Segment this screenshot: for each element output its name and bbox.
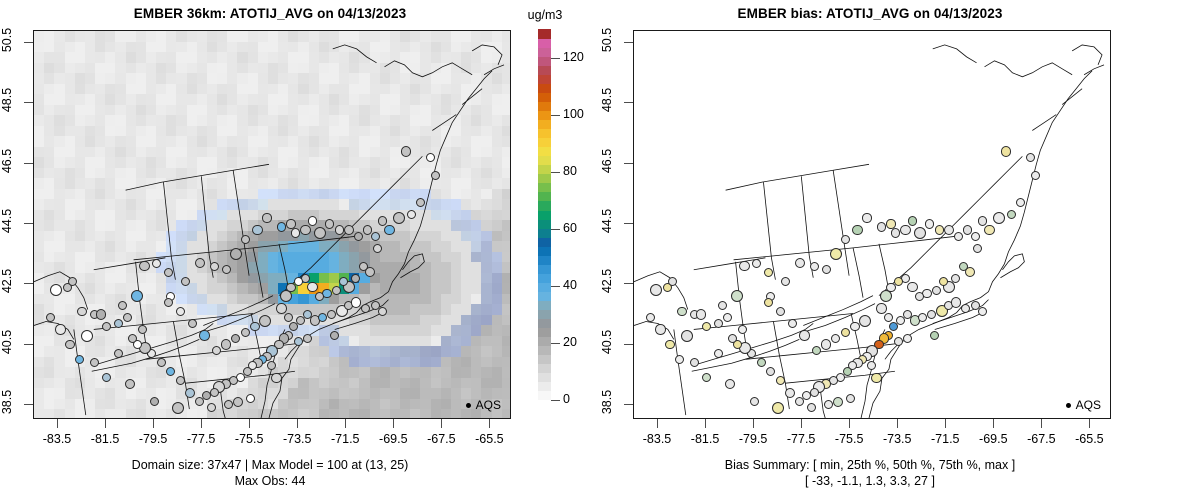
x-axis-tick — [393, 419, 394, 428]
bias-monitor-marker — [894, 337, 903, 346]
x-axis-tick — [993, 419, 994, 428]
bias-monitor-marker — [876, 303, 886, 313]
bias-monitor-marker — [925, 219, 934, 228]
aqs-monitor-marker — [373, 244, 382, 253]
y-axis-label: 50.5 — [600, 17, 614, 63]
colorbar-segment — [538, 156, 551, 166]
bias-monitor-marker — [810, 388, 819, 397]
y-axis-tick — [24, 223, 33, 224]
aqs-monitor-marker — [222, 265, 231, 274]
right-caption-line1: Bias Summary: [ min, 25th %, 50th %, 75t… — [600, 458, 1140, 472]
bias-monitor-marker — [650, 284, 662, 296]
aqs-monitor-marker — [102, 322, 111, 331]
y-axis-tick — [624, 102, 633, 103]
x-axis-tick — [441, 419, 442, 428]
bias-monitor-marker — [880, 290, 892, 302]
left-caption-line1: Domain size: 37x47 | Max Model = 100 at … — [0, 458, 540, 472]
colorbar-segment — [538, 390, 551, 400]
aqs-legend-dot — [466, 403, 471, 408]
bias-monitor-marker — [984, 225, 994, 235]
bias-monitor-marker — [725, 379, 735, 389]
bias-monitor-marker — [961, 304, 970, 313]
bias-monitor-marker — [900, 225, 910, 235]
x-axis-tick — [297, 419, 298, 428]
bias-monitor-marker — [675, 355, 684, 364]
aqs-monitor-marker — [157, 358, 166, 367]
aqs-monitor-marker — [176, 376, 185, 385]
y-axis-label: 42.5 — [0, 258, 14, 304]
aqs-monitor-marker — [138, 325, 147, 334]
y-axis-label: 44.5 — [600, 198, 614, 244]
aqs-monitor-marker — [46, 313, 55, 322]
bias-monitor-marker — [799, 330, 809, 340]
bias-monitor-marker — [935, 225, 944, 234]
bias-monitor-marker — [1007, 210, 1016, 219]
x-axis-tick — [945, 419, 946, 428]
aqs-monitor-marker — [252, 225, 262, 235]
aqs-monitor-marker — [365, 267, 375, 277]
aqs-monitor-marker — [102, 373, 111, 382]
right-panel: EMBER bias: ATOTIJ_AVG on 04/13/2023 AQS… — [600, 0, 1200, 502]
x-axis-tick — [57, 419, 58, 428]
bias-monitor-marker — [781, 277, 790, 286]
aqs-monitor-marker — [294, 337, 303, 346]
aqs-monitor-marker — [125, 379, 135, 389]
bias-monitor-marker — [877, 222, 886, 231]
aqs-monitor-marker — [81, 330, 93, 342]
aqs-monitor-marker — [318, 313, 327, 322]
y-axis-tick — [24, 163, 33, 164]
aqs-monitor-marker — [176, 307, 185, 316]
colorbar-segment — [538, 246, 551, 256]
aqs-monitor-marker — [123, 313, 132, 322]
bias-monitor-marker — [993, 212, 1005, 224]
aqs-monitor-marker — [188, 319, 197, 328]
aqs-monitor-marker — [118, 301, 127, 310]
bias-monitor-marker — [718, 301, 727, 310]
bias-monitor-marker — [891, 228, 900, 237]
y-axis-tick — [624, 283, 633, 284]
left-caption-line2: Max Obs: 44 — [0, 474, 540, 488]
aqs-monitor-marker — [401, 146, 411, 156]
bias-monitor-marker — [841, 328, 850, 337]
bias-monitor-marker — [951, 297, 961, 307]
y-axis-tick — [624, 404, 633, 405]
y-axis-label: 48.5 — [0, 77, 14, 123]
y-axis-label: 42.5 — [600, 258, 614, 304]
bias-monitor-marker — [824, 400, 833, 409]
aqs-legend: AQS — [1063, 397, 1104, 413]
colorbar-segment — [538, 102, 551, 112]
aqs-monitor-marker — [378, 216, 387, 225]
aqs-monitor-marker — [307, 282, 317, 292]
x-axis-tick — [897, 419, 898, 428]
aqs-monitor-marker — [378, 307, 387, 316]
bias-monitor-marker — [731, 290, 743, 302]
y-axis-label: 44.5 — [0, 198, 14, 244]
y-axis-tick — [24, 283, 33, 284]
colorbar-segment — [538, 372, 551, 382]
left-panel-title: EMBER 36km: ATOTIJ_AVG on 04/13/2023 — [0, 6, 540, 21]
colorbar-segment — [538, 93, 551, 103]
colorbar-segment — [538, 47, 551, 57]
bias-monitor-marker — [810, 262, 819, 271]
aqs-legend-dot — [1066, 403, 1071, 408]
y-axis-tick — [24, 102, 33, 103]
aqs-monitor-marker — [50, 284, 62, 296]
aqs-monitor-marker — [207, 403, 216, 412]
aqs-monitor-marker — [212, 346, 221, 355]
colorbar-segment — [538, 345, 551, 355]
colorbar-tick — [551, 343, 560, 344]
bias-monitor-markers — [634, 31, 1110, 418]
aqs-monitor-marker — [407, 210, 416, 219]
left-map-frame: AQS — [33, 30, 511, 419]
bias-monitor-marker — [668, 277, 677, 286]
bias-monitor-marker — [830, 248, 842, 260]
aqs-monitor-marker — [344, 225, 354, 235]
aqs-monitor-marker — [371, 232, 380, 241]
aqs-monitor-marker — [65, 340, 74, 349]
bias-monitor-marker — [788, 319, 797, 328]
colorbar-tick — [551, 229, 560, 230]
y-axis-tick — [624, 163, 633, 164]
aqs-monitor-marker — [267, 361, 276, 370]
bias-monitor-marker — [812, 346, 821, 355]
colorbar-segment — [538, 363, 551, 373]
bias-monitor-marker — [886, 219, 895, 228]
right-panel-title: EMBER bias: ATOTIJ_AVG on 04/13/2023 — [600, 6, 1140, 21]
bias-monitor-marker — [965, 267, 975, 277]
bias-monitor-marker — [846, 394, 855, 403]
aqs-monitor-marker — [224, 400, 233, 409]
aqs-monitor-marker — [426, 153, 435, 162]
aqs-monitor-marker — [335, 225, 344, 234]
aqs-monitor-marker — [262, 213, 271, 222]
aqs-monitor-marker — [199, 330, 209, 340]
aqs-monitor-marker — [351, 297, 361, 307]
bias-monitor-marker — [859, 315, 871, 327]
bias-monitor-marker — [908, 216, 917, 225]
colorbar-segment — [538, 66, 551, 76]
colorbar-segment — [538, 354, 551, 364]
colorbar-tick-label: 0 — [563, 392, 570, 406]
aqs-monitor-marker — [250, 322, 259, 331]
bias-monitor-marker — [723, 313, 732, 322]
colorbar-segment — [538, 129, 551, 139]
bias-monitor-marker — [795, 397, 804, 406]
x-axis-tick — [705, 419, 706, 428]
bias-monitor-marker — [655, 324, 665, 334]
x-axis-label: -65.5 — [459, 432, 519, 446]
aqs-monitor-marker — [271, 373, 281, 383]
aqs-monitor-marker — [286, 219, 295, 228]
bias-monitor-marker — [867, 361, 876, 370]
bias-monitor-marker — [907, 282, 917, 292]
colorbar-segment — [538, 57, 551, 67]
bias-monitor-marker — [750, 397, 759, 406]
x-axis-label: -65.5 — [1059, 432, 1119, 446]
colorbar-segment — [538, 309, 551, 319]
aqs-monitor-marker — [75, 355, 84, 364]
x-axis-tick — [657, 419, 658, 428]
colorbar-tick — [551, 286, 560, 287]
bias-monitor-marker — [677, 307, 686, 316]
aqs-monitor-marker — [221, 339, 231, 349]
aqs-monitor-marker — [55, 324, 65, 334]
aqs-monitor-marker — [327, 310, 336, 319]
colorbar-tick — [551, 58, 560, 59]
x-axis-tick — [249, 419, 250, 428]
bias-monitor-marker — [752, 259, 761, 268]
aqs-monitor-marker — [291, 228, 300, 237]
left-panel: EMBER 36km: ATOTIJ_AVG on 04/13/2023 AQS… — [0, 0, 600, 502]
aqs-monitor-marker — [210, 388, 219, 397]
bias-monitor-marker — [738, 325, 747, 334]
x-axis-tick — [1089, 419, 1090, 428]
aqs-monitor-marker — [139, 261, 149, 271]
bias-monitor-marker — [785, 388, 795, 398]
right-map-frame: AQS — [633, 30, 1111, 419]
colorbar-segment — [538, 255, 551, 265]
bias-monitor-marker — [862, 213, 871, 222]
colorbar-segment — [538, 38, 551, 48]
x-axis-tick — [489, 419, 490, 428]
colorbar-segment — [538, 381, 551, 391]
bias-monitor-marker — [772, 402, 784, 414]
y-axis-label: 46.5 — [600, 138, 614, 184]
colorbar-segment — [538, 318, 551, 328]
colorbar-segment — [538, 192, 551, 202]
x-axis-tick — [345, 419, 346, 428]
bias-monitor-marker — [914, 227, 926, 239]
bias-monitor-marker — [954, 232, 963, 241]
bias-monitor-marker — [930, 331, 939, 340]
colorbar-segment — [538, 228, 551, 238]
bias-monitor-marker — [739, 261, 749, 271]
bias-monitor-marker — [696, 309, 706, 319]
right-caption-line2: [ -33, -1.1, 1.3, 3.3, 27 ] — [600, 474, 1140, 488]
bias-monitor-marker — [646, 313, 655, 322]
bias-monitor-marker — [665, 340, 674, 349]
colorbar-segment — [538, 210, 551, 220]
aqs-monitor-marker — [361, 304, 370, 313]
left-colorbar: ug/m3 020406080100120 — [538, 30, 551, 400]
colorbar-segment — [538, 120, 551, 130]
left-colorbar-gradient: 020406080100120 — [538, 30, 551, 400]
aqs-monitor-marker — [280, 290, 292, 302]
x-axis-tick — [105, 419, 106, 428]
bias-monitor-marker — [850, 322, 859, 331]
aqs-legend: AQS — [463, 397, 504, 413]
aqs-monitor-marker — [330, 331, 339, 340]
colorbar-tick-label: 120 — [563, 50, 584, 64]
aqs-monitor-marker — [303, 334, 312, 343]
bias-monitor-marker — [1026, 153, 1035, 162]
aqs-monitor-marker — [166, 367, 175, 376]
colorbar-segment — [538, 183, 551, 193]
aqs-monitor-marker — [210, 262, 219, 271]
bias-monitor-marker — [903, 334, 912, 343]
colorbar-tick-label: 60 — [563, 221, 577, 235]
bias-monitor-marker — [822, 265, 831, 274]
y-axis-label: 48.5 — [600, 77, 614, 123]
colorbar-segment — [538, 237, 551, 247]
aqs-monitor-marker — [259, 315, 271, 327]
bias-monitor-marker — [833, 397, 843, 407]
bias-monitor-marker — [971, 232, 980, 241]
colorbar-segment — [538, 147, 551, 157]
aqs-monitor-marker — [308, 216, 317, 225]
aqs-monitor-marker — [230, 248, 242, 260]
colorbar-tick — [551, 400, 560, 401]
colorbar-segment — [538, 165, 551, 175]
aqs-monitor-marker — [195, 397, 204, 406]
aqs-monitor-marker — [284, 313, 293, 322]
aqs-monitor-marker — [164, 298, 173, 307]
colorbar-segment — [538, 264, 551, 274]
aqs-monitor-marker — [172, 402, 184, 414]
figure-root: EMBER 36km: ATOTIJ_AVG on 04/13/2023 AQS… — [0, 0, 1200, 502]
colorbar-segment — [538, 84, 551, 94]
aqs-monitor-marker — [241, 328, 250, 337]
aqs-monitor-marker — [325, 219, 334, 228]
bias-monitor-marker — [1031, 171, 1040, 180]
bias-monitor-marker — [702, 373, 711, 382]
bias-monitor-marker — [766, 367, 775, 376]
aqs-legend-label: AQS — [476, 398, 501, 412]
y-axis-tick — [24, 344, 33, 345]
aqs-monitor-marker — [393, 212, 405, 224]
bias-monitor-marker — [1001, 146, 1011, 156]
aqs-monitor-marker — [431, 171, 440, 180]
colorbar-tick-label: 80 — [563, 164, 577, 178]
aqs-monitor-marker — [231, 334, 240, 343]
y-axis-label: 40.5 — [0, 319, 14, 365]
aqs-monitor-marker — [77, 307, 86, 316]
x-axis-tick — [801, 419, 802, 428]
aqs-monitor-marker — [277, 222, 286, 231]
y-axis-label: 50.5 — [0, 17, 14, 63]
colorbar-tick — [551, 172, 560, 173]
aqs-monitor-marker — [181, 277, 190, 286]
aqs-monitor-marker — [96, 309, 106, 319]
bias-monitor-marker — [932, 286, 941, 295]
bias-monitor-marker — [973, 244, 982, 253]
aqs-monitor-marker — [150, 397, 159, 406]
y-axis-tick — [624, 223, 633, 224]
bias-monitor-marker — [852, 225, 862, 235]
aqs-monitor-marker — [68, 277, 77, 286]
y-axis-label: 38.5 — [600, 379, 614, 425]
y-axis-label: 46.5 — [0, 138, 14, 184]
aqs-monitor-marker — [90, 358, 99, 367]
y-axis-tick — [24, 42, 33, 43]
bias-monitor-marker — [714, 349, 723, 358]
aqs-monitor-marker — [276, 303, 286, 313]
aqs-monitor-marker — [233, 397, 243, 407]
aqs-legend-label: AQS — [1076, 398, 1101, 412]
aqs-monitor-marker — [332, 286, 341, 295]
aqs-monitor-marker — [114, 319, 123, 328]
y-axis-label: 40.5 — [600, 319, 614, 365]
y-axis-tick — [24, 404, 33, 405]
aqs-monitor-marker — [384, 225, 394, 235]
aqs-monitor-marker — [300, 225, 310, 235]
aqs-monitor-marker — [354, 232, 363, 241]
bias-monitor-marker — [795, 258, 805, 268]
colorbar-segment — [538, 201, 551, 211]
colorbar-tick-label: 100 — [563, 107, 584, 121]
bias-monitor-marker — [918, 313, 927, 322]
aqs-monitor-marker — [131, 290, 143, 302]
x-axis-tick — [1041, 419, 1042, 428]
bias-monitor-marker — [764, 298, 773, 307]
colorbar-segment — [538, 327, 551, 337]
colorbar-segment — [538, 273, 551, 283]
bias-monitor-marker — [978, 216, 987, 225]
colorbar-segment — [538, 75, 551, 85]
colorbar-segment — [538, 300, 551, 310]
bias-monitor-marker — [690, 358, 699, 367]
aqs-monitor-markers — [34, 31, 510, 418]
y-axis-tick — [624, 42, 633, 43]
aqs-monitor-marker — [114, 349, 123, 358]
aqs-monitor-marker — [416, 198, 425, 207]
left-colorbar-units: ug/m3 — [514, 8, 576, 22]
bias-monitor-marker — [764, 268, 773, 277]
bias-monitor-marker — [841, 235, 850, 244]
colorbar-segment — [538, 291, 551, 301]
colorbar-tick-label: 40 — [563, 278, 577, 292]
bias-monitor-marker — [807, 403, 816, 412]
bias-monitor-marker — [978, 307, 987, 316]
bias-monitor-marker — [944, 225, 954, 235]
bias-monitor-marker — [1016, 198, 1025, 207]
aqs-monitor-marker — [185, 388, 195, 398]
aqs-monitor-marker — [241, 235, 250, 244]
colorbar-segment — [538, 138, 551, 148]
colorbar-segment — [538, 29, 551, 39]
aqs-monitor-marker — [152, 259, 161, 268]
aqs-monitor-marker — [315, 292, 324, 301]
bias-monitor-marker — [776, 307, 785, 316]
colorbar-segment — [538, 174, 551, 184]
y-axis-tick — [624, 344, 633, 345]
aqs-monitor-marker — [314, 227, 326, 239]
x-axis-tick — [753, 419, 754, 428]
colorbar-segment — [538, 336, 551, 346]
colorbar-tick — [551, 115, 560, 116]
aqs-monitor-marker — [164, 268, 173, 277]
x-axis-tick — [849, 419, 850, 428]
colorbar-tick-label: 20 — [563, 335, 577, 349]
bias-monitor-marker — [681, 330, 693, 342]
bias-monitor-marker — [831, 334, 840, 343]
bias-monitor-marker — [776, 376, 785, 385]
bias-monitor-marker — [821, 339, 831, 349]
colorbar-segment — [538, 219, 551, 229]
bias-monitor-marker — [927, 310, 936, 319]
bias-monitor-marker — [714, 319, 723, 328]
x-axis-tick — [201, 419, 202, 428]
bias-monitor-marker — [915, 292, 924, 301]
colorbar-segment — [538, 282, 551, 292]
bias-monitor-marker — [871, 373, 881, 383]
y-axis-label: 38.5 — [0, 379, 14, 425]
bias-monitor-marker — [702, 322, 711, 331]
x-axis-tick — [153, 419, 154, 428]
